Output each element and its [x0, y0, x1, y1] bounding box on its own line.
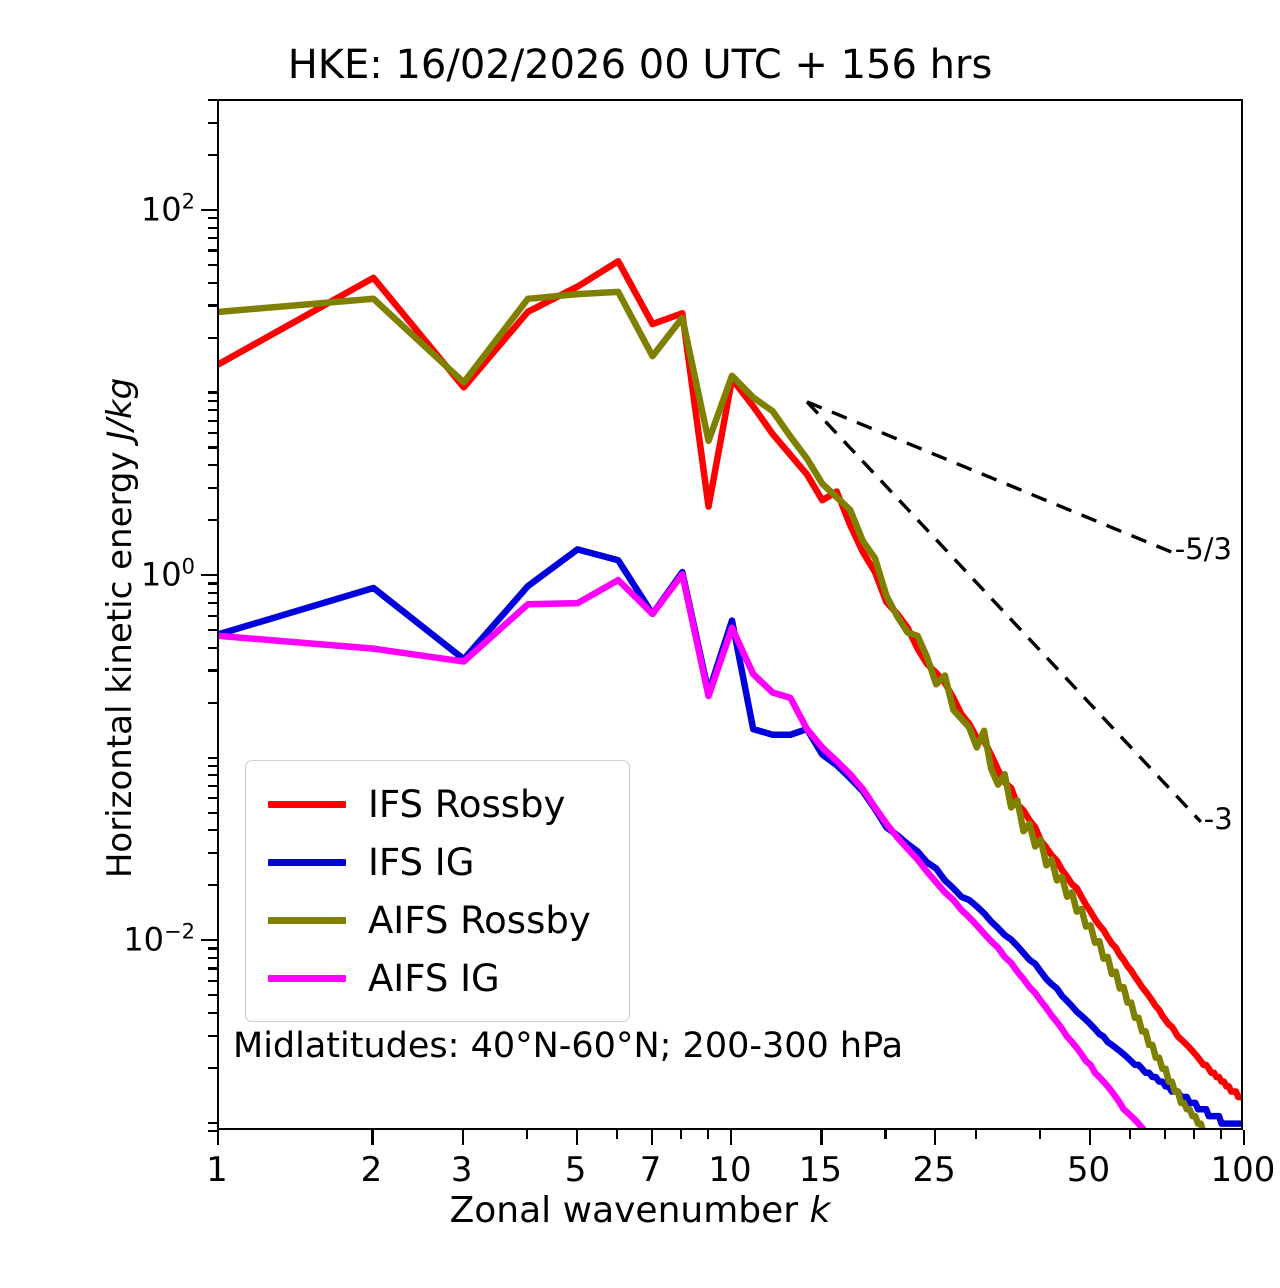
y-tick-mark	[201, 574, 217, 576]
chart-title: HKE: 16/02/2026 00 UTC + 156 hrs	[0, 42, 1280, 88]
y-tick-mark	[208, 785, 217, 787]
y-tick-mark	[208, 829, 217, 831]
legend-item-ifs-rossby[interactable]: IFS Rossby	[260, 775, 613, 833]
y-tick-mark	[201, 209, 217, 211]
y-tick-mark	[208, 774, 217, 776]
legend-item-ifs-ig[interactable]: IFS IG	[260, 833, 613, 891]
x-tick-mark	[371, 1130, 373, 1145]
legend-label: AIFS IG	[368, 960, 500, 997]
y-tick-label: 102	[77, 190, 195, 229]
x-tick-label: 25	[913, 1150, 956, 1190]
y-tick-mark	[208, 391, 217, 393]
y-tick-mark	[208, 400, 217, 402]
x-tick-mark	[1220, 1130, 1222, 1139]
slope-label-53: -5/3	[1175, 532, 1232, 566]
y-tick-mark	[208, 519, 217, 521]
legend-item-aifs-ig[interactable]: AIFS IG	[260, 949, 613, 1007]
x-tick-mark	[576, 1130, 578, 1145]
x-tick-mark	[975, 1130, 977, 1139]
y-tick-mark	[208, 337, 217, 339]
y-tick-mark	[208, 669, 217, 671]
y-axis-label-unit: J/kg	[100, 378, 140, 441]
x-axis-label: Zonal wavenumber k	[0, 1190, 1280, 1231]
y-tick-mark	[208, 1122, 217, 1124]
x-tick-mark	[462, 1130, 464, 1145]
x-tick-mark	[1129, 1130, 1131, 1139]
y-tick-mark	[208, 994, 217, 996]
y-tick-mark	[208, 264, 217, 266]
y-tick-mark	[208, 122, 217, 124]
y-tick-mark	[208, 582, 217, 584]
x-tick-label: 50	[1067, 1150, 1110, 1190]
x-tick-mark	[820, 1130, 822, 1145]
y-tick-mark	[208, 446, 217, 448]
y-tick-mark	[208, 765, 217, 767]
x-tick-mark	[680, 1130, 682, 1139]
x-tick-mark	[526, 1130, 528, 1139]
y-tick-base: 10	[123, 920, 164, 958]
legend-label: IFS IG	[368, 844, 474, 881]
y-tick-mark	[208, 957, 217, 959]
x-tick-mark	[616, 1130, 618, 1139]
x-tick-label: 10	[708, 1150, 751, 1190]
slope-reference-line-3	[807, 402, 1201, 822]
y-tick-mark	[208, 797, 217, 799]
y-tick-mark	[208, 249, 217, 251]
x-tick-mark	[707, 1130, 709, 1139]
y-tick-mark	[208, 464, 217, 466]
y-tick-mark	[208, 1067, 217, 1069]
x-tick-label: 3	[451, 1150, 473, 1190]
y-tick-mark	[208, 1012, 217, 1014]
x-tick-mark	[730, 1130, 732, 1145]
y-tick-mark	[208, 154, 217, 156]
x-tick-mark	[884, 1130, 886, 1139]
slope-label-3: -3	[1204, 802, 1233, 836]
y-tick-mark	[208, 615, 217, 617]
x-axis-label-symbol: k	[810, 1190, 831, 1231]
y-tick-mark	[208, 852, 217, 854]
y-tick-mark	[208, 702, 217, 704]
legend-box: IFS RossbyIFS IGAIFS RossbyAIFS IG	[245, 760, 630, 1022]
y-tick-mark	[208, 757, 217, 759]
y-tick-mark	[208, 947, 217, 949]
x-tick-mark	[651, 1130, 653, 1145]
y-tick-mark	[208, 227, 217, 229]
y-tick-mark	[208, 237, 217, 239]
y-tick-mark	[208, 629, 217, 631]
y-tick-exponent: 2	[182, 190, 195, 214]
x-tick-label: 7	[640, 1150, 662, 1190]
y-tick-mark	[208, 217, 217, 219]
y-tick-mark	[208, 980, 217, 982]
x-tick-label: 1	[206, 1150, 228, 1190]
y-tick-mark	[208, 432, 217, 434]
x-tick-label: 100	[1211, 1150, 1276, 1190]
legend-label: AIFS Rossby	[368, 902, 591, 939]
y-tick-mark	[201, 939, 217, 941]
y-tick-mark	[208, 592, 217, 594]
y-tick-exponent: −2	[164, 920, 195, 944]
x-tick-mark	[217, 1130, 219, 1145]
legend-swatch-line	[268, 859, 346, 866]
figure-canvas: HKE: 16/02/2026 00 UTC + 156 hrs Horizon…	[0, 0, 1280, 1288]
y-tick-base: 10	[141, 555, 182, 593]
y-tick-mark	[208, 409, 217, 411]
y-tick-mark	[208, 1035, 217, 1037]
x-tick-label: 5	[565, 1150, 587, 1190]
y-tick-mark	[208, 812, 217, 814]
legend-item-aifs-rossby[interactable]: AIFS Rossby	[260, 891, 613, 949]
y-tick-mark	[208, 884, 217, 886]
y-tick-mark	[208, 304, 217, 306]
x-tick-mark	[934, 1130, 936, 1145]
x-tick-mark	[1193, 1130, 1195, 1139]
x-tick-label: 15	[799, 1150, 842, 1190]
legend-swatch-line	[268, 975, 346, 982]
y-axis-label-text: Horizontal kinetic energy	[100, 441, 140, 879]
region-annotation: Midlatitudes: 40°N-60°N; 200-300 hPa	[233, 1026, 903, 1066]
legend-label: IFS Rossby	[368, 786, 565, 823]
x-tick-mark	[1164, 1130, 1166, 1139]
legend-swatch-line	[268, 801, 346, 808]
y-tick-mark	[208, 647, 217, 649]
y-tick-mark	[208, 602, 217, 604]
y-tick-mark	[208, 967, 217, 969]
y-tick-exponent: 0	[182, 555, 195, 579]
legend-swatch-line	[268, 917, 346, 924]
x-tick-mark	[1243, 1130, 1245, 1145]
x-tick-mark	[1089, 1130, 1091, 1145]
y-tick-base: 10	[141, 190, 182, 228]
x-tick-mark	[1039, 1130, 1041, 1139]
x-axis-label-text: Zonal wavenumber	[450, 1190, 810, 1231]
y-tick-mark	[208, 1130, 217, 1132]
y-tick-mark	[208, 487, 217, 489]
x-tick-label: 2	[361, 1150, 383, 1190]
y-tick-mark	[208, 420, 217, 422]
y-tick-mark	[208, 99, 217, 101]
y-tick-label: 100	[77, 555, 195, 594]
y-tick-label: 10−2	[77, 920, 195, 959]
y-tick-mark	[208, 282, 217, 284]
